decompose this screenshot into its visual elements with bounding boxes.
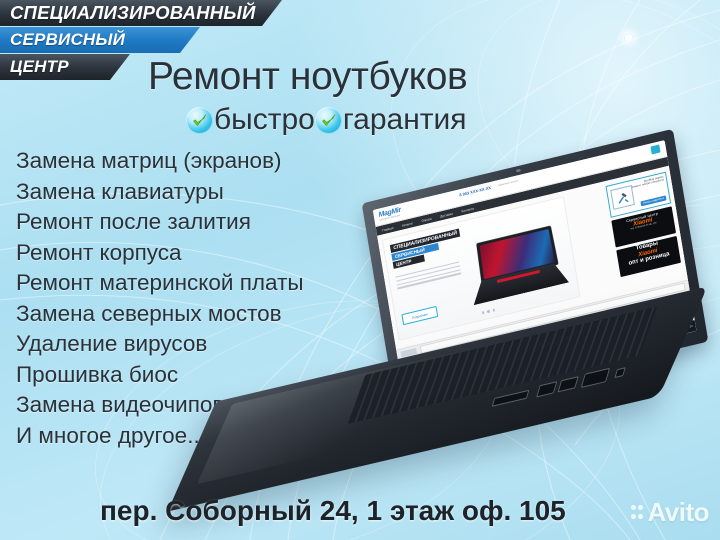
vga-port-icon <box>581 368 611 388</box>
avito-dots-icon <box>631 503 644 522</box>
sparkle-icon <box>624 33 633 42</box>
nav-item: Главная <box>382 225 394 232</box>
laptop-photo: MagMir интернет магазин 8 903 XXX-XX-XX … <box>185 165 695 475</box>
ribbon-line-service: СЕРВИСНЫЙ <box>0 27 210 53</box>
benefit-label-warranty: гарантия <box>343 103 467 137</box>
address-line: пер. Соборный 24, 1 этаж оф. 105 <box>100 495 566 527</box>
usb-port-icon <box>558 376 579 392</box>
lock-slot-icon <box>614 367 625 378</box>
cart-icon <box>650 144 660 154</box>
ribbon-line-specialized: СПЕЦИАЛИЗИРОВАННЫЙ <box>0 0 292 26</box>
hero-more-button: Подробнее <box>401 306 438 325</box>
service-promo-button: Узнать подробнее <box>641 195 667 206</box>
site-phone: 8 903 XXX-XX-XX <box>459 185 491 198</box>
avito-watermark: Avito <box>631 497 709 528</box>
site-callback-note: обратный звонок <box>498 179 518 187</box>
usb-port-icon <box>536 381 557 397</box>
check-circle-icon <box>186 107 213 134</box>
check-circle-icon <box>315 107 342 134</box>
site-logo: MagMir интернет магазин <box>378 207 402 222</box>
nav-item: Каталог <box>402 221 413 228</box>
benefit-label-fast: быстро <box>214 103 315 137</box>
tools-icon <box>610 185 635 210</box>
benefits-row: быстро гарантия <box>186 103 467 137</box>
advertisement-banner: СПЕЦИАЛИЗИРОВАННЫЙ СЕРВИСНЫЙ ЦЕНТР Ремон… <box>0 0 720 540</box>
webcam-icon <box>516 168 521 172</box>
carousel-dots <box>482 309 496 315</box>
avito-wordmark: Avito <box>647 497 709 528</box>
page-title: Ремонт ноутбуков <box>148 55 568 99</box>
nav-item: Оплата <box>421 216 432 222</box>
site-sidebar: МагМир сервис ремонт любой сложности <box>606 172 682 280</box>
ribbon-line-center: ЦЕНТР <box>0 54 140 80</box>
hero-gaming-laptop-image <box>464 223 570 307</box>
